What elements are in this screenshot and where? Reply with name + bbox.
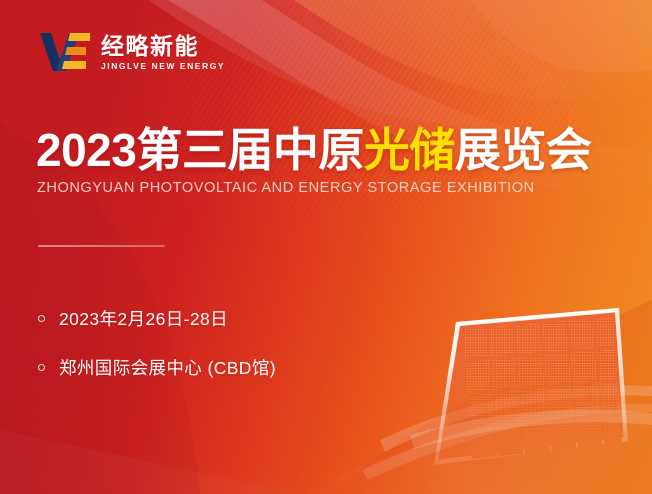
event-details-list: 2023年2月26日-28日 郑州国际会展中心 (CBD馆) <box>38 305 368 403</box>
circle-bullet-icon <box>38 315 45 322</box>
solar-panel-array-illustration <box>400 285 652 494</box>
list-item: 2023年2月26日-28日 <box>38 305 368 332</box>
exhibition-poster: 经略新能 JINGLVE NEW ENERGY 2023第三届中原光储展览会 Z… <box>0 0 652 494</box>
title-part-2: 展览会 <box>455 124 592 176</box>
event-venue: 郑州国际会展中心 (CBD馆) <box>59 355 276 380</box>
title-divider <box>38 245 165 247</box>
page-title: 2023第三届中原光储展览会 <box>36 126 591 176</box>
brand-logo: 经略新能 JINGLVE NEW ENERGY <box>38 29 225 75</box>
brand-name-en: JINGLVE NEW ENERGY <box>101 62 225 71</box>
list-item: 郑州国际会展中心 (CBD馆) <box>38 354 368 381</box>
circle-bullet-icon <box>38 364 45 371</box>
title-part-1: 2023第三届中原 <box>36 124 364 176</box>
brand-name-cn: 经略新能 <box>101 35 225 58</box>
page-subtitle: ZHONGYUAN PHOTOVOLTAIC AND ENERGY STORAG… <box>37 180 535 196</box>
brand-logo-text: 经略新能 JINGLVE NEW ENERGY <box>101 34 225 71</box>
ve-monogram-logo-icon <box>38 30 92 74</box>
title-highlight: 光储 <box>364 124 455 176</box>
event-date: 2023年2月26日-28日 <box>59 306 228 331</box>
